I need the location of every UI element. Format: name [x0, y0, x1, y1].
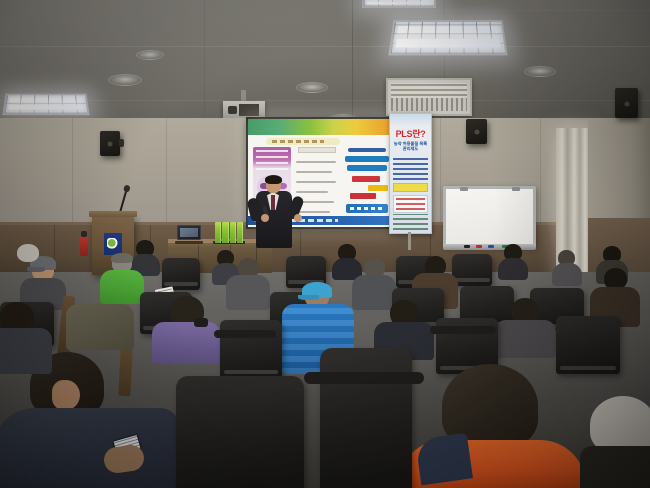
slide-title: [266, 138, 340, 145]
ceiling-ac-vent: [386, 78, 472, 116]
attendee-back-gray: [552, 250, 582, 284]
wall-speaker-center-right: [466, 119, 487, 144]
banner-title: PLS란?: [390, 127, 431, 140]
slide-highlight-tag: [352, 176, 380, 182]
marker: [464, 245, 470, 248]
downlight: [136, 50, 164, 60]
ceiling-projector: [223, 101, 265, 118]
downlight: [524, 66, 556, 77]
auditorium-chair[interactable]: [452, 254, 492, 286]
presenter-laptop: [175, 225, 203, 242]
chair-arm: [430, 326, 496, 334]
fire-extinguisher: [80, 236, 88, 256]
auditorium-chair[interactable]: [320, 348, 412, 488]
slide-highlight-tag-2: [350, 193, 376, 199]
marker: [488, 245, 494, 248]
green-product-bottles: [215, 222, 243, 243]
attendee-gray-polo: [226, 258, 270, 308]
whiteboard: [443, 186, 536, 247]
ceiling: [0, 0, 650, 132]
slide-data-table: [296, 147, 340, 223]
attendee-camo-pants: [66, 294, 134, 348]
wall-speaker-left: [100, 131, 120, 156]
blue-cap: [302, 282, 332, 298]
slide-blue-banner: [346, 204, 388, 213]
slide-note-tag: [368, 185, 388, 191]
slide-header-band: [248, 119, 390, 135]
fluorescent-panel-far-left: [2, 94, 89, 116]
fluorescent-panel-right: [388, 20, 507, 55]
chair-arm: [214, 330, 276, 338]
auditorium-chair[interactable]: [220, 320, 282, 378]
attendee-gray-right: [494, 298, 556, 356]
marker: [476, 245, 482, 248]
attendee-left-edge: [0, 302, 52, 372]
chair-arm: [304, 372, 424, 384]
downlight: [296, 82, 328, 93]
attendee-back-right: [498, 244, 528, 278]
auditorium-chair[interactable]: [176, 376, 304, 488]
pls-standing-banner: PLS란? 농약 허용물질 목록 관리제도: [389, 113, 432, 234]
wall-speaker-right: [615, 88, 638, 118]
banner-stand: [408, 232, 411, 250]
fluorescent-panel-top-right: [362, 0, 436, 8]
banner-subtitle: 농약 허용물질 목록 관리제도: [392, 141, 429, 151]
attendee-dark-foreground-right: [580, 396, 650, 488]
slide-right-content: [344, 145, 390, 225]
podium-emblem: [104, 233, 122, 255]
auditorium-chair[interactable]: [162, 258, 200, 290]
attendee-white-hair: [12, 244, 46, 270]
lecture-hall-photo: PLS란? 농약 허용물질 목록 관리제도: [0, 0, 650, 488]
downlight: [108, 74, 142, 86]
presenter: [252, 176, 296, 248]
hair-clip: [194, 318, 208, 327]
